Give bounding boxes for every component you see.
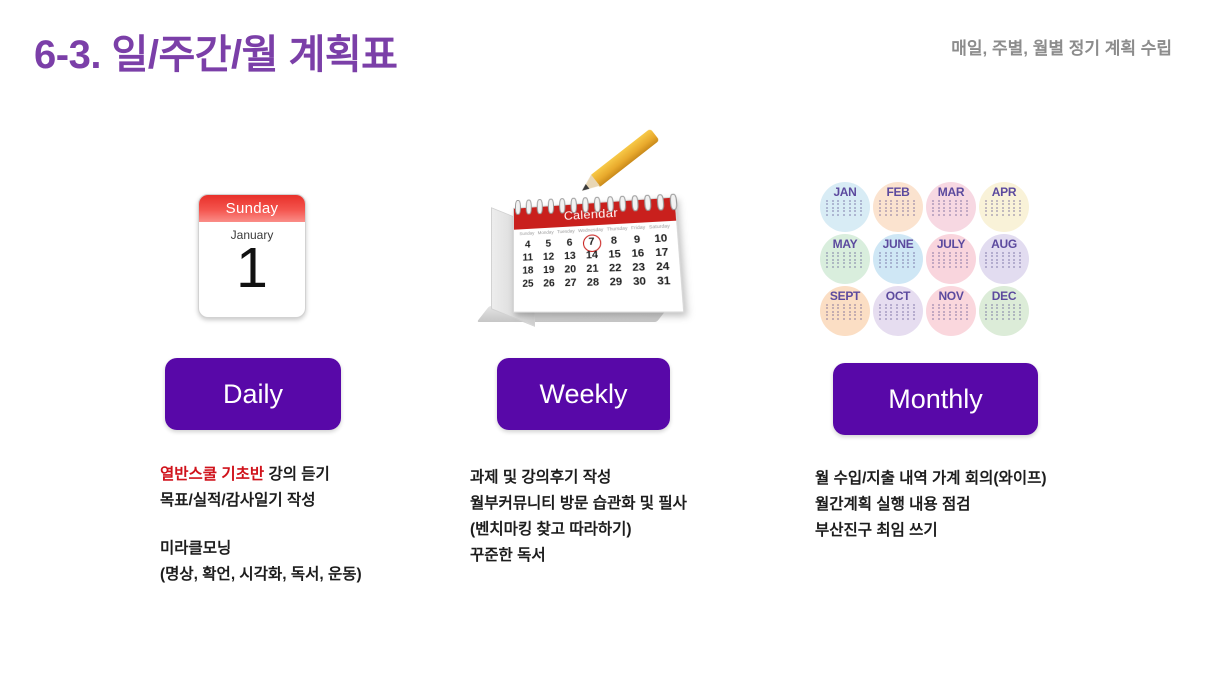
- month-dot-grid: [879, 200, 917, 216]
- month-circle: NOV: [926, 286, 976, 336]
- date-cell: 8: [605, 235, 623, 247]
- daily-icon-zone: Sunday January 1: [88, 180, 428, 345]
- month-dot-grid: [985, 304, 1023, 320]
- task-line: 월부커뮤니티 방문 습관화 및 필사: [470, 491, 687, 517]
- line-spacer: [160, 514, 362, 536]
- date-cell: 16: [628, 248, 647, 260]
- daily-button[interactable]: Daily: [165, 358, 341, 430]
- date-cell: 5: [540, 238, 556, 250]
- date-cell: 6: [561, 237, 578, 249]
- day-calendar-weekday: Sunday: [199, 195, 305, 222]
- month-circle: JUNE: [873, 234, 923, 284]
- daily-task-list: 열반스쿨 기초반 강의 듣기목표/실적/감사일기 작성미라클모닝(명상, 확언,…: [160, 462, 362, 588]
- desk-calendar-row: 25 26 27 28 29 30 31: [519, 274, 675, 291]
- dow-cell: Monday: [538, 229, 554, 235]
- task-text: 부산진구 최임 쓰기: [815, 522, 938, 539]
- month-dot-grid: [932, 252, 970, 268]
- month-circle: JAN: [820, 182, 870, 232]
- page-subtitle: 매일, 주별, 월별 정기 계획 수립: [951, 34, 1172, 59]
- task-text: 미라클모닝: [160, 540, 231, 557]
- date-cell-circled: 7: [583, 236, 601, 248]
- task-line: (벤치마킹 찾고 따라하기): [470, 517, 687, 543]
- task-text: (벤치마킹 찾고 따라하기): [470, 521, 632, 538]
- month-dot-grid: [985, 200, 1023, 216]
- monthly-icon-zone: JANFEBMARAPRMAYJUNEJULYAUGSEPTOCTNOVDEC: [760, 180, 1100, 345]
- column-weekly: Calendar Sunday Monday Tuesday Wednesday…: [420, 180, 760, 345]
- twelve-month-circles-icon: JANFEBMARAPRMAYJUNEJULYAUGSEPTOCTNOVDEC: [820, 182, 1030, 336]
- month-circle: JULY: [926, 234, 976, 284]
- date-cell: 27: [562, 277, 579, 289]
- month-label: JAN: [833, 186, 856, 198]
- month-label: FEB: [886, 186, 909, 198]
- month-dot-grid: [932, 200, 970, 216]
- month-circle: APR: [979, 182, 1029, 232]
- date-cell: 23: [629, 262, 648, 274]
- month-label: MAY: [833, 238, 858, 250]
- page-title: 6-3. 일/주간/월 계획표: [34, 22, 397, 80]
- day-calendar-day: 1: [199, 240, 305, 296]
- date-cell: 19: [541, 265, 558, 277]
- task-text: 목표/실적/감사일기 작성: [160, 492, 316, 509]
- month-circle: MAY: [820, 234, 870, 284]
- month-circle: FEB: [873, 182, 923, 232]
- task-text: 월 수입/지출 내역 가계 회의(와이프): [815, 470, 1047, 487]
- monthly-task-list: 월 수입/지출 내역 가계 회의(와이프)월간계획 실행 내용 점검부산진구 최…: [815, 466, 1047, 544]
- desk-calendar-pencil-icon: Calendar Sunday Monday Tuesday Wednesday…: [475, 188, 705, 338]
- month-dot-grid: [826, 304, 864, 320]
- task-line: 열반스쿨 기초반 강의 듣기: [160, 462, 362, 488]
- monthly-button[interactable]: Monthly: [833, 363, 1038, 435]
- date-cell: 14: [583, 250, 601, 262]
- weekly-task-list: 과제 및 강의후기 작성월부커뮤니티 방문 습관화 및 필사(벤치마킹 찾고 따…: [470, 465, 687, 569]
- task-text: (명상, 확언, 시각화, 독서, 운동): [160, 566, 362, 583]
- date-cell: 21: [584, 263, 602, 275]
- weekly-icon-zone: Calendar Sunday Monday Tuesday Wednesday…: [420, 180, 760, 345]
- task-line: 목표/실적/감사일기 작성: [160, 488, 362, 514]
- task-highlight: 열반스쿨 기초반: [160, 466, 264, 483]
- task-text: 꾸준한 독서: [470, 547, 546, 564]
- date-cell: 11: [520, 252, 536, 264]
- dow-cell: Thursday: [607, 225, 628, 231]
- column-daily: Sunday January 1: [88, 180, 428, 345]
- month-dot-grid: [826, 200, 864, 216]
- month-dot-grid: [879, 252, 917, 268]
- task-line: (명상, 확언, 시각화, 독서, 운동): [160, 562, 362, 588]
- dow-cell: Tuesday: [557, 228, 575, 234]
- task-text: 월간계획 실행 내용 점검: [815, 496, 971, 513]
- month-label: MAR: [938, 186, 964, 198]
- month-circle: SEPT: [820, 286, 870, 336]
- date-cell: 9: [628, 234, 647, 246]
- month-label: DEC: [992, 290, 1016, 302]
- task-line: 월 수입/지출 내역 가계 회의(와이프): [815, 466, 1047, 492]
- desk-calendar-grid: 4 5 6 7 8 9 10 11 12 13 14 15 16: [514, 229, 681, 291]
- date-cell: 31: [654, 275, 674, 288]
- month-dot-grid: [985, 252, 1023, 268]
- task-line: 부산진구 최임 쓰기: [815, 518, 1047, 544]
- month-dot-grid: [879, 304, 917, 320]
- date-cell: 12: [540, 251, 557, 263]
- date-cell: 28: [584, 277, 602, 289]
- month-circle: OCT: [873, 286, 923, 336]
- pencil-icon: [578, 129, 660, 197]
- date-cell: 29: [607, 276, 626, 288]
- month-label: SEPT: [830, 290, 860, 302]
- dow-cell: Saturday: [649, 223, 670, 229]
- date-cell: 10: [651, 233, 671, 246]
- date-cell: 4: [520, 239, 536, 251]
- date-cell: 17: [652, 247, 672, 260]
- date-cell: 13: [561, 250, 578, 262]
- day-calendar-icon: Sunday January 1: [198, 194, 306, 318]
- month-label: JUNE: [883, 238, 914, 250]
- dow-cell: Sunday: [519, 231, 534, 237]
- date-cell: 24: [653, 261, 673, 274]
- month-label: OCT: [886, 290, 910, 302]
- task-line: 월간계획 실행 내용 점검: [815, 492, 1047, 518]
- task-text: 강의 듣기: [264, 466, 330, 483]
- weekly-button[interactable]: Weekly: [497, 358, 670, 430]
- task-line: 미라클모닝: [160, 536, 362, 562]
- month-label: JULY: [937, 238, 965, 250]
- date-cell: 25: [520, 278, 536, 290]
- column-monthly: JANFEBMARAPRMAYJUNEJULYAUGSEPTOCTNOVDEC: [760, 180, 1100, 345]
- month-dot-grid: [826, 252, 864, 268]
- date-cell: 18: [520, 265, 536, 277]
- task-line: 과제 및 강의후기 작성: [470, 465, 687, 491]
- date-cell: 30: [630, 276, 649, 288]
- task-line: 꾸준한 독서: [470, 543, 687, 569]
- dow-cell: Friday: [631, 225, 645, 231]
- date-cell: 20: [562, 264, 579, 276]
- month-circle: MAR: [926, 182, 976, 232]
- task-text: 과제 및 강의후기 작성: [470, 469, 611, 486]
- month-dot-grid: [932, 304, 970, 320]
- month-circle: AUG: [979, 234, 1029, 284]
- date-cell: 26: [541, 278, 558, 290]
- task-text: 월부커뮤니티 방문 습관화 및 필사: [470, 495, 687, 512]
- date-cell: 15: [605, 249, 623, 261]
- month-label: NOV: [938, 290, 963, 302]
- month-circle: DEC: [979, 286, 1029, 336]
- month-label: AUG: [991, 238, 1017, 250]
- date-cell: 22: [606, 262, 624, 274]
- month-label: APR: [992, 186, 1016, 198]
